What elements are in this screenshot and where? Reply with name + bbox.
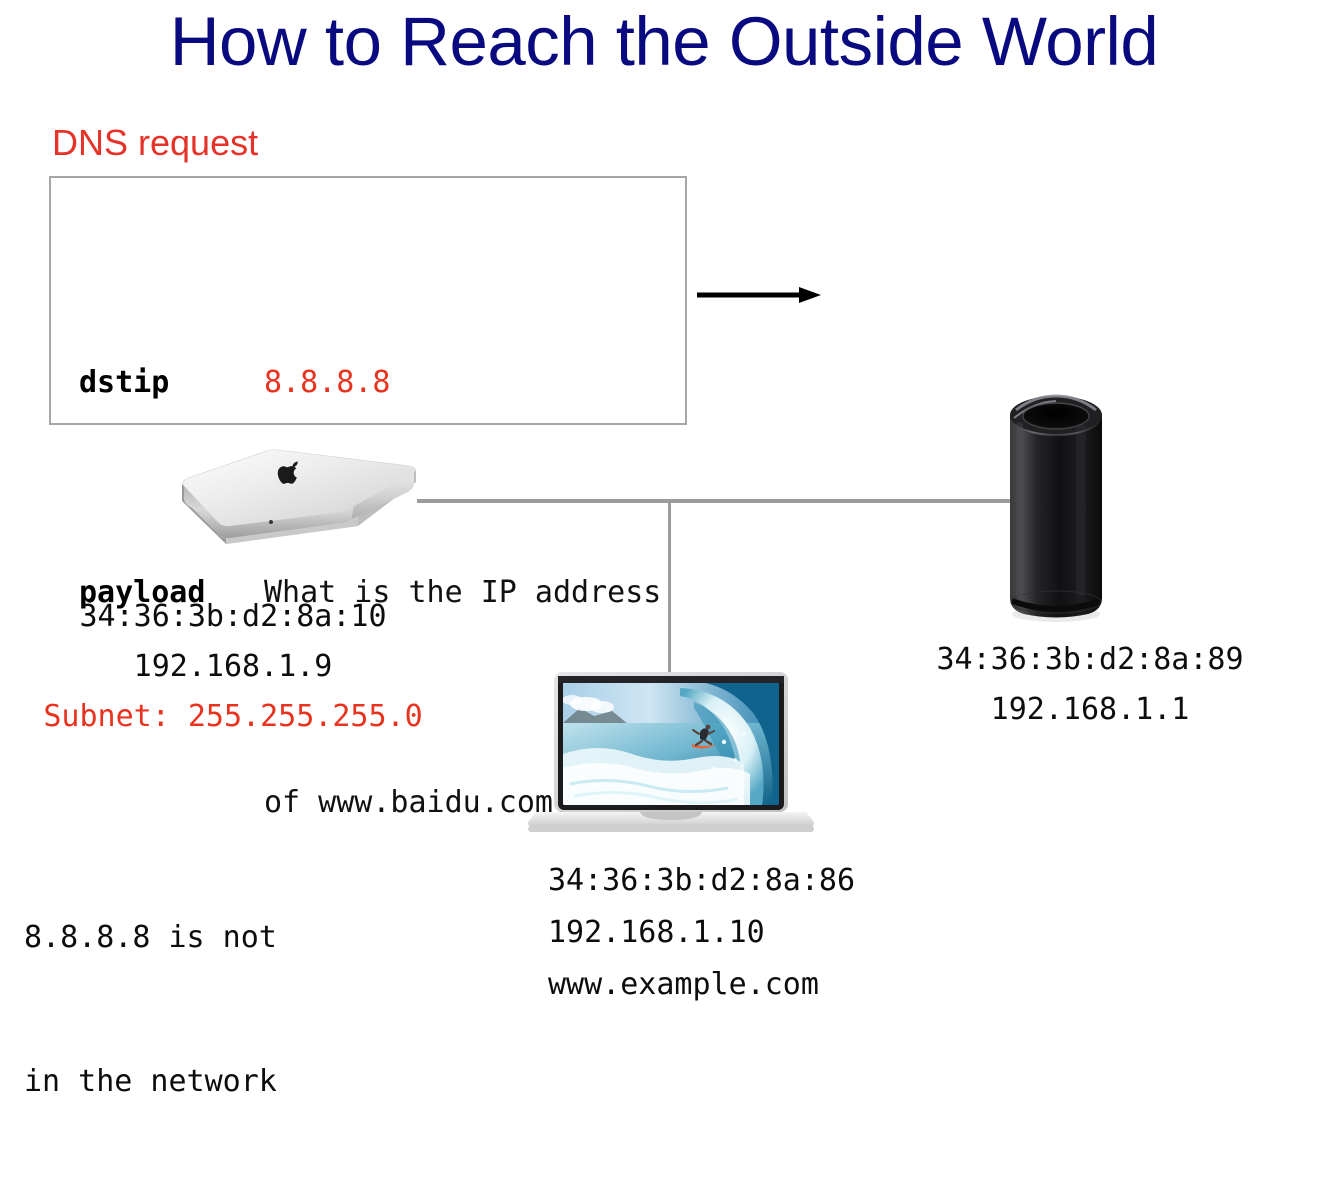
slide-canvas: How to Reach the Outside World DNS reque… xyxy=(0,0,1328,1006)
mac-pro-ip-address: 192.168.1.1 xyxy=(880,685,1300,735)
mac-pro-labels: 34:36:3b:d2:8a:89 192.168.1.1 xyxy=(880,635,1300,735)
mac-mini-mac-address: 34:36:3b:d2:8a:10 xyxy=(0,592,466,642)
mac-pro-mac-address: 34:36:3b:d2:8a:89 xyxy=(880,635,1300,685)
out-of-subnet-note-line-2: in the network xyxy=(24,1058,277,1106)
mac-pro-device-icon xyxy=(1004,392,1108,624)
mac-mini-subnet-mask: Subnet: 255.255.255.0 xyxy=(0,692,466,742)
packet-direction-arrow-icon xyxy=(697,286,821,304)
mac-mini-labels: 34:36:3b:d2:8a:10 192.168.1.9 Subnet: 25… xyxy=(0,592,466,742)
dns-request-caption: DNS request xyxy=(52,122,258,164)
mac-mini-device-icon xyxy=(178,446,420,550)
page-title: How to Reach the Outside World xyxy=(0,2,1328,81)
packet-field-dstip-key: dstip xyxy=(79,348,264,418)
macbook-device-icon xyxy=(528,668,814,838)
macbook-hostname: www.example.com xyxy=(548,959,855,1011)
mac-mini-ip-address: 192.168.1.9 xyxy=(0,642,466,692)
macbook-mac-address: 34:36:3b:d2:8a:86 xyxy=(548,855,855,907)
network-bus-vertical-to-macbook xyxy=(668,499,671,675)
packet-field-dstip-value: 8.8.8.8 xyxy=(264,365,390,400)
packet-field-dstip: dstip8.8.8.8 xyxy=(79,348,661,418)
dns-request-packet-box: dstip8.8.8.8 payloadWhat is the IP addre… xyxy=(49,176,687,425)
out-of-subnet-note: 8.8.8.8 is not in the network xyxy=(24,818,277,1202)
macbook-labels: 34:36:3b:d2:8a:86 192.168.1.10 www.examp… xyxy=(548,855,855,1011)
network-bus-horizontal xyxy=(417,499,1011,503)
macbook-ip-address: 192.168.1.10 xyxy=(548,907,855,959)
out-of-subnet-note-line-1: 8.8.8.8 is not xyxy=(24,914,277,962)
